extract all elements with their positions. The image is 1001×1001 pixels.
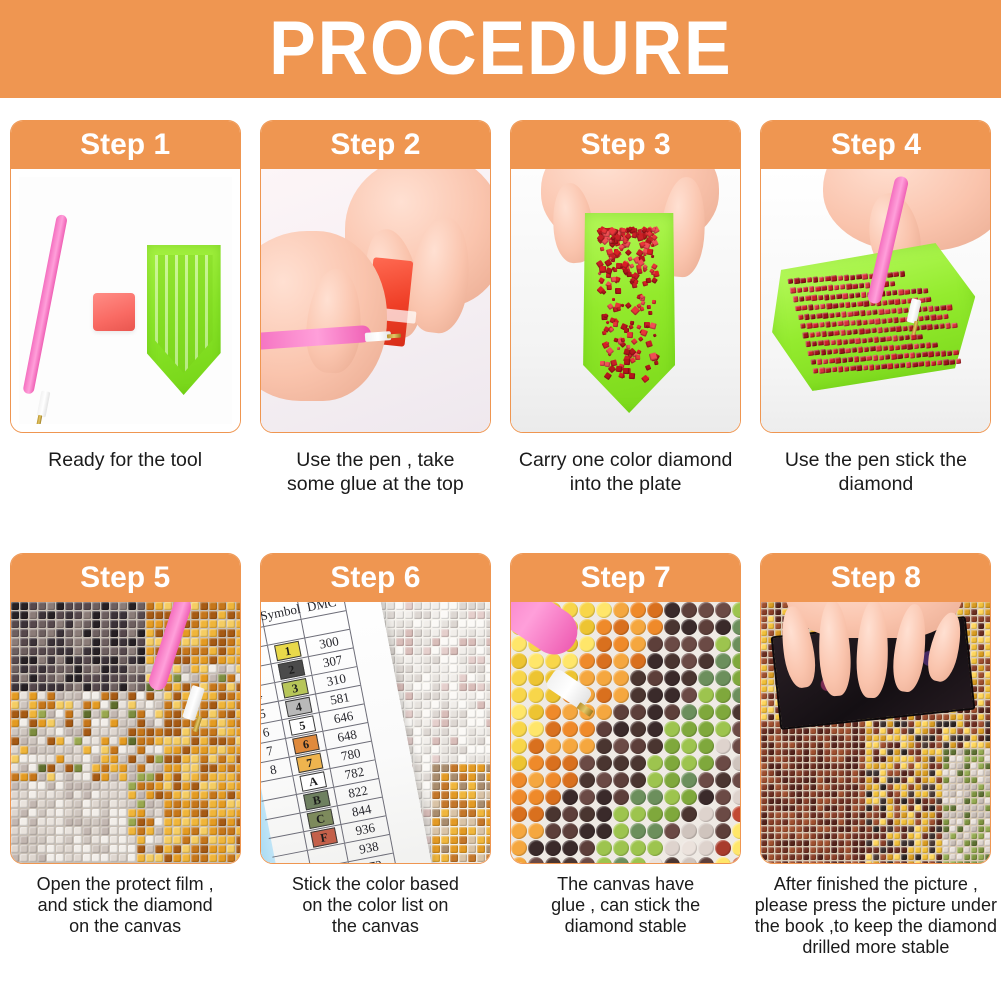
mosaic-bead [908,847,914,853]
mosaic-bead [789,742,795,748]
mosaic-bead [803,861,809,863]
mosaic-bead [432,665,440,673]
mosaic-bead [83,818,91,826]
mosaic-bead [715,755,731,771]
mosaic-bead [146,818,154,826]
mosaic-bead [441,620,449,628]
step-image-5 [11,602,240,863]
mosaic-bead [908,742,914,748]
mosaic-bead [845,791,851,797]
mosaic-bead [38,737,46,745]
mosaic-bead [477,710,485,718]
mosaic-bead [218,656,226,664]
mosaic-bead [971,735,977,741]
mosaic-bead [768,749,774,755]
mosaic-bead [845,798,851,804]
mosaic-bead [732,619,740,635]
mosaic-bead [887,791,893,797]
mosaic-bead [922,861,928,863]
mosaic-bead [432,845,440,853]
mosaic-bead [929,854,935,860]
mosaic-bead [450,629,458,637]
mosaic-bead [761,686,767,692]
mosaic-bead [29,620,37,628]
mosaic-bead [852,791,858,797]
mosaic-bead [486,710,490,718]
mosaic-bead [38,719,46,727]
mosaic-bead [459,809,467,817]
mosaic-bead [47,773,55,781]
mosaic-bead [155,836,163,844]
mosaic-bead [852,847,858,853]
mosaic-bead [65,755,73,763]
red-diamond [645,340,653,348]
mosaic-bead [56,764,64,772]
mosaic-bead [562,806,578,822]
mosaic-bead [831,791,837,797]
mosaic-bead [236,602,240,610]
mosaic-bead [922,840,928,846]
mosaic-bead [450,800,458,808]
mosaic-bead [936,854,942,860]
mosaic-bead [137,755,145,763]
mosaic-bead [423,800,431,808]
mosaic-bead [810,763,816,769]
mosaic-bead [768,721,774,727]
mosaic-bead [978,735,984,741]
mosaic-bead [943,854,949,860]
mosaic-bead [647,721,663,737]
mosaic-bead [545,772,561,788]
mosaic-bead [715,721,731,737]
mosaic-bead [137,656,145,664]
mosaic-bead [630,721,646,737]
mosaic-bead [859,847,865,853]
mosaic-bead [432,683,440,691]
mosaic-bead [789,770,795,776]
mosaic-bead [441,737,449,745]
mosaic-bead [732,653,740,669]
mosaic-bead [768,791,774,797]
mosaic-bead [810,784,816,790]
mosaic-bead [866,756,872,762]
mosaic-bead [423,692,431,700]
mosaic-bead [218,692,226,700]
mosaic-bead [20,854,28,862]
mosaic-bead [83,656,91,664]
mosaic-bead [65,818,73,826]
mosaic-bead [477,836,485,844]
mosaic-bead [101,611,109,619]
mosaic-bead [486,782,490,790]
mosaic-bead [761,623,767,629]
mosaic-bead [38,611,46,619]
mosaic-bead [468,800,476,808]
mosaic-bead [29,683,37,691]
mosaic-bead [894,721,900,727]
mosaic-bead [929,714,935,720]
mosaic-bead [441,692,449,700]
mosaic-bead [859,777,865,783]
mosaic-bead [831,749,837,755]
mosaic-bead [978,672,984,678]
mosaic-bead [901,735,907,741]
mosaic-bead [775,798,781,804]
mosaic-bead [38,647,46,655]
mosaic-bead [866,812,872,818]
mosaic-bead [782,791,788,797]
red-diamond [620,228,625,233]
mosaic-bead [110,755,118,763]
mosaic-bead [908,833,914,839]
mosaic-bead [236,683,240,691]
mosaic-bead [209,656,217,664]
mosaic-bead [817,791,823,797]
step-card-8: Step 8 [760,553,991,864]
pen-tip [36,390,50,417]
mosaic-bead [957,721,963,727]
mosaic-bead [630,619,646,635]
mosaic-bead [119,638,127,646]
mosaic-bead [119,665,127,673]
mosaic-bead [164,809,172,817]
mosaic-bead [929,721,935,727]
mosaic-bead [894,784,900,790]
mosaic-bead [182,665,190,673]
mosaic-bead [137,845,145,853]
mosaic-bead [971,847,977,853]
mosaic-bead [647,789,663,805]
red-diamond [602,289,607,294]
mosaic-bead [128,854,136,862]
mosaic-bead [119,692,127,700]
mosaic-bead [810,777,816,783]
mosaic-bead [985,672,990,678]
mosaic-bead [768,805,774,811]
mosaic-bead [915,770,921,776]
mosaic-bead [803,742,809,748]
mosaic-bead [11,692,19,700]
mosaic-bead [38,629,46,637]
mosaic-bead [92,746,100,754]
mosaic-bead [414,692,422,700]
mosaic-bead [817,763,823,769]
mosaic-bead [38,818,46,826]
photo-tools [19,177,232,424]
mosaic-bead [20,629,28,637]
mosaic-bead [227,746,235,754]
mosaic-bead [957,714,963,720]
mosaic-bead [957,847,963,853]
mosaic-bead [119,701,127,709]
mosaic-bead [859,812,865,818]
mosaic-bead [950,728,956,734]
mosaic-bead [38,791,46,799]
mosaic-bead [450,827,458,835]
mosaic-bead [74,647,82,655]
mosaic-bead [423,728,431,736]
mosaic-bead [128,719,136,727]
mosaic-bead [796,777,802,783]
mosaic-bead [29,647,37,655]
mosaic-bead [441,755,449,763]
mosaic-bead [227,737,235,745]
mosaic-bead [137,728,145,736]
mosaic-bead [20,656,28,664]
mosaic-bead [901,756,907,762]
red-diamond-in-groove [802,305,808,311]
mosaic-bead [887,826,893,832]
mosaic-bead [732,857,740,863]
mosaic-bead [852,861,858,863]
mosaic-bead [782,756,788,762]
step-cell-4: Step 4 [751,120,1001,540]
mosaic-bead [20,746,28,754]
mosaic-bead [191,845,199,853]
mosaic-bead [936,721,942,727]
mosaic-bead [613,857,629,863]
mosaic-bead [964,805,970,811]
mosaic-bead [810,728,816,734]
mosaic-bead [20,800,28,808]
mosaic-bead [782,840,788,846]
mosaic-bead [922,728,928,734]
mosaic-bead [761,770,767,776]
mosaic-bead [922,826,928,832]
mosaic-bead [119,764,127,772]
mosaic-bead [810,854,816,860]
mosaic-bead [47,602,55,610]
mosaic-bead [92,701,100,709]
mosaic-bead [964,728,970,734]
mosaic-bead [596,789,612,805]
mosaic-bead [477,701,485,709]
mosaic-bead [528,704,544,720]
mosaic-bead [459,620,467,628]
mosaic-bead [950,714,956,720]
mosaic-bead [83,719,91,727]
mosaic-bead [978,602,984,608]
mosaic-bead [985,693,990,699]
mosaic-bead [782,819,788,825]
mosaic-bead [119,656,127,664]
mosaic-bead [155,701,163,709]
mosaic-bead [943,763,949,769]
red-diamond-in-groove [932,342,938,348]
mosaic-bead [775,805,781,811]
mosaic-bead [796,742,802,748]
mosaic-bead [56,638,64,646]
mosaic-bead [613,755,629,771]
red-diamond-in-groove [790,287,796,293]
mosaic-bead [971,651,977,657]
mosaic-bead [200,854,208,862]
mosaic-bead [200,629,208,637]
mosaic-bead [56,629,64,637]
mosaic-bead [477,773,485,781]
mosaic-bead [761,679,767,685]
mosaic-bead [817,756,823,762]
mosaic-bead [838,749,844,755]
mosaic-bead [218,683,226,691]
mosaic-bead [200,800,208,808]
mosaic-bead [782,798,788,804]
mosaic-bead [92,728,100,736]
mosaic-bead [128,764,136,772]
mosaic-bead [396,638,404,646]
mosaic-bead [20,611,28,619]
mosaic-bead [432,692,440,700]
mosaic-bead [450,764,458,772]
mosaic-bead [761,763,767,769]
mosaic-bead [894,728,900,734]
mosaic-bead [915,812,921,818]
mosaic-bead [978,728,984,734]
mosaic-bead [423,809,431,817]
step-label-6: Step 6 [330,563,420,593]
mosaic-bead [56,647,64,655]
mosaic-bead [236,701,240,709]
mosaic-bead [936,819,942,825]
mosaic-bead [477,764,485,772]
mosaic-bead [838,798,844,804]
mosaic-bead [468,719,476,727]
mosaic-bead [423,710,431,718]
mosaic-bead [579,772,595,788]
mosaic-bead [922,742,928,748]
mosaic-bead [74,746,82,754]
mosaic-bead [838,833,844,839]
mosaic-bead [20,647,28,655]
mosaic-bead [985,721,990,727]
mosaic-bead [943,798,949,804]
mosaic-bead [441,836,449,844]
mosaic-bead [715,636,731,652]
mosaic-bead [964,826,970,832]
mosaic-bead [218,701,226,709]
mosaic-bead [929,805,935,811]
mosaic-bead [873,840,879,846]
mosaic-bead [664,772,680,788]
mosaic-bead [761,693,767,699]
mosaic-bead [209,800,217,808]
mosaic-bead [817,826,823,832]
mosaic-bead [957,609,963,615]
mosaic-bead [92,845,100,853]
mosaic-bead [943,714,949,720]
mosaic-bead [468,809,476,817]
mosaic-bead [450,818,458,826]
mosaic-bead [182,809,190,817]
mosaic-bead [128,647,136,655]
mosaic-bead [845,742,851,748]
mosaic-bead [459,827,467,835]
mosaic-bead [915,861,921,863]
mosaic-bead [922,812,928,818]
mosaic-bead [511,806,527,822]
mosaic-bead [468,638,476,646]
mosaic-bead [698,721,714,737]
mosaic-bead [74,737,82,745]
mosaic-bead [173,665,181,673]
mosaic-bead [768,756,774,762]
mosaic-bead [20,728,28,736]
mosaic-bead [971,623,977,629]
mosaic-bead [441,611,449,619]
mosaic-bead [200,701,208,709]
mosaic-bead [782,833,788,839]
mosaic-bead [630,602,646,618]
mosaic-bead [38,728,46,736]
mosaic-bead [128,746,136,754]
mosaic-bead [477,854,485,862]
mosaic-bead [880,847,886,853]
mosaic-bead [405,719,413,727]
mosaic-bead [528,840,544,856]
mosaic-bead [29,755,37,763]
mosaic-bead [47,674,55,682]
step-card-3: Step 3 [510,120,741,433]
mosaic-bead [901,805,907,811]
mosaic-bead [477,728,485,736]
mosaic-bead [164,827,172,835]
mosaic-bead [83,674,91,682]
mosaic-bead [596,704,612,720]
mosaic-bead [929,763,935,769]
mosaic-bead [101,746,109,754]
mosaic-bead [20,836,28,844]
mosaic-bead [894,763,900,769]
mosaic-bead [596,670,612,686]
mosaic-bead [218,620,226,628]
mosaic-bead [218,602,226,610]
mosaic-bead [664,738,680,754]
step-label-2: Step 2 [330,130,420,160]
mosaic-bead [630,687,646,703]
mosaic-bead [477,800,485,808]
mosaic-bead [200,665,208,673]
mosaic-bead [613,653,629,669]
mosaic-bead [477,818,485,826]
mosaic-bead [511,738,527,754]
mosaic-bead [775,763,781,769]
mosaic-bead [613,772,629,788]
mosaic-bead [964,763,970,769]
mosaic-bead [873,805,879,811]
mosaic-bead [11,665,19,673]
mosaic-bead [441,782,449,790]
mosaic-bead [922,756,928,762]
mosaic-bead [92,665,100,673]
mosaic-bead [613,721,629,737]
mosaic-bead [852,749,858,755]
mosaic-bead [20,827,28,835]
mosaic-bead [236,791,240,799]
mosaic-bead [423,602,431,610]
mosaic-bead [929,777,935,783]
mosaic-bead [387,629,395,637]
red-diamond [646,277,652,283]
mosaic-bead [613,704,629,720]
mosaic-bead [137,611,145,619]
red-diamond [652,300,657,305]
mosaic-bead [236,782,240,790]
mosaic-bead [29,602,37,610]
mosaic-bead [450,719,458,727]
red-diamond [615,241,618,244]
mosaic-bead [901,763,907,769]
mosaic-bead [545,823,561,839]
